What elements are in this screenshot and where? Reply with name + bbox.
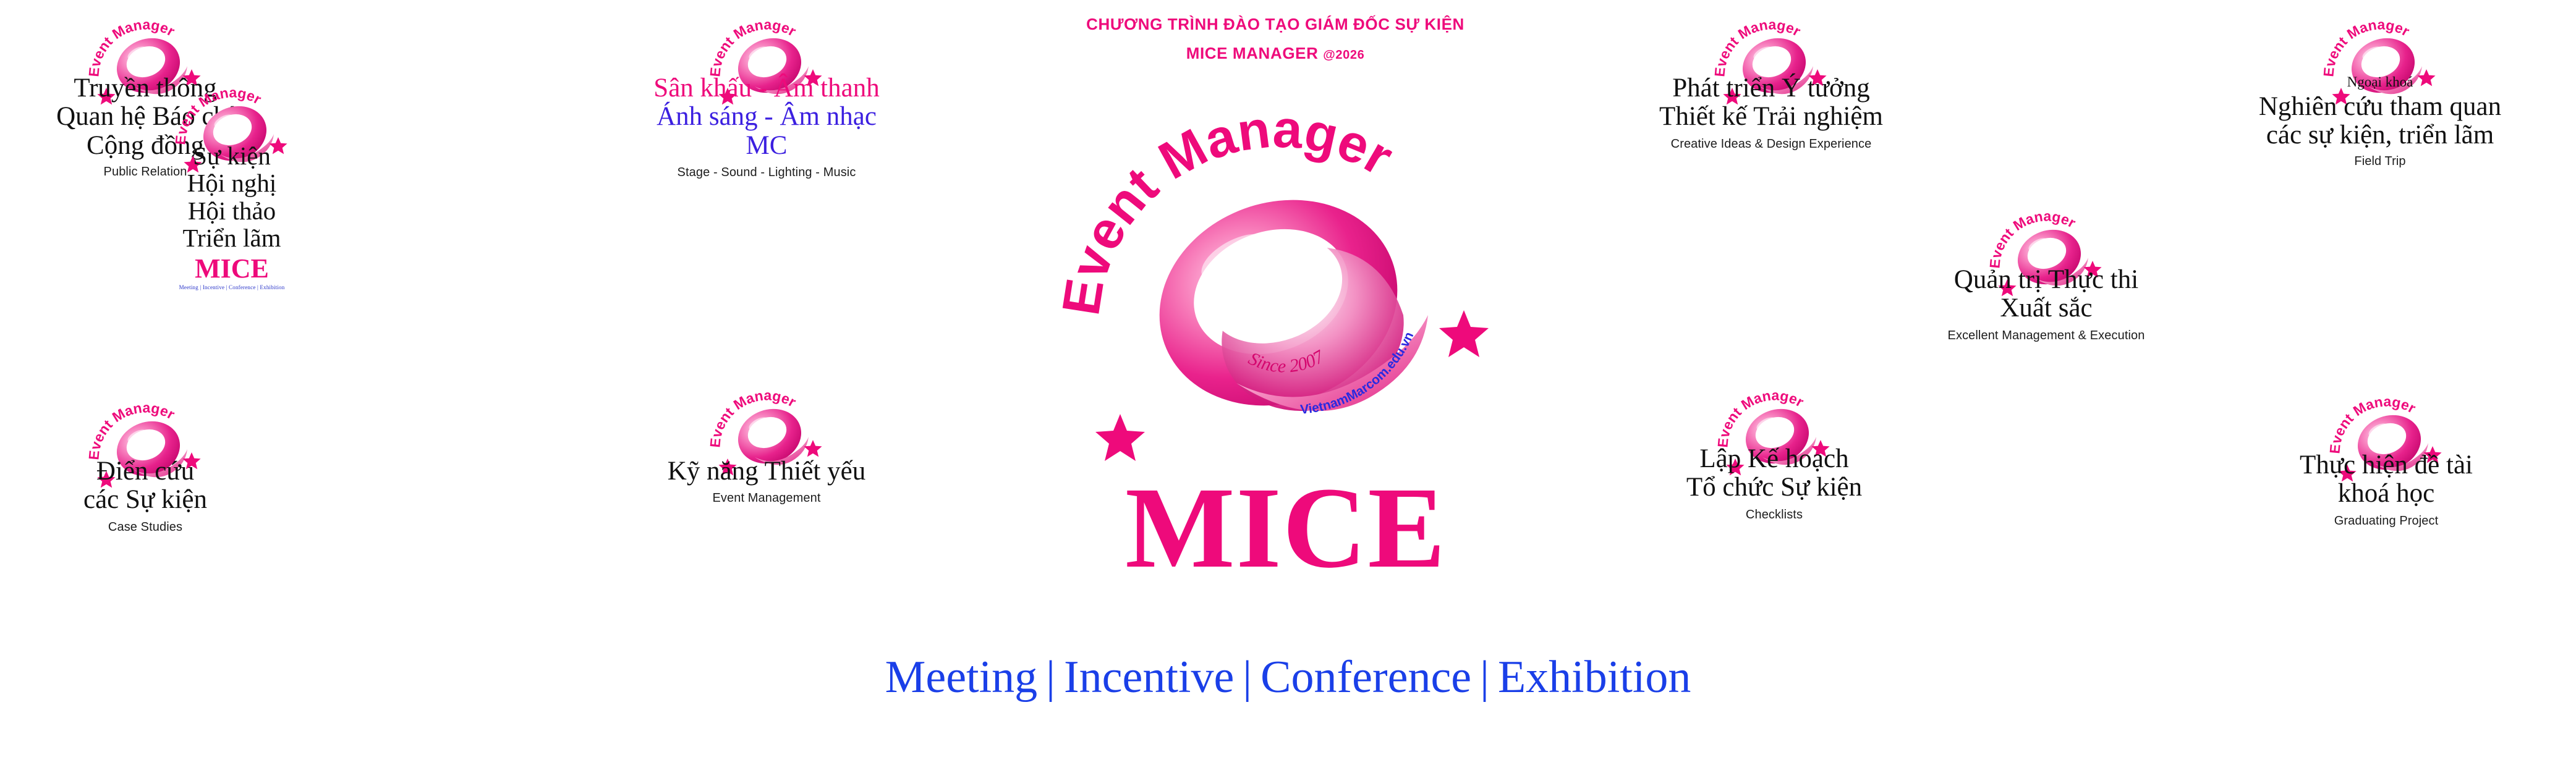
module-creative-ideas: Event Manager Phát triển Ý tưởng Thiết k… — [1586, 12, 1957, 151]
badge-graduating-project: Event Manager — [2213, 389, 2559, 451]
module-title-line: Sân khấu - Âm thanh — [575, 74, 958, 103]
module-title: Kỹ năng Thiết yếu — [612, 457, 921, 486]
star-icon — [1439, 310, 1489, 357]
module-title-line: Lập Kế hoạch — [1620, 445, 1929, 473]
module-title-line: Nghiên cứu tham quan — [2188, 93, 2572, 121]
module-title-line: Ánh sáng - Âm nhạc — [575, 103, 958, 131]
tagline: Meeting|Incentive|Conference|Exhibition — [0, 654, 2576, 700]
title-line-2: MICE MANAGER @2026 — [997, 44, 1554, 63]
module-title: Lập Kế hoạch Tổ chức Sự kiện — [1620, 445, 1929, 502]
module-case-studies: Event Manager Điển cứu các Sự kiện Case … — [0, 395, 291, 534]
module-title: Quản trị Thực thi Xuất sắc — [1855, 266, 2238, 323]
module-mice-expansion: Meeting | Incentive | Conference | Exhib… — [93, 284, 371, 290]
module-event-management: Event Manager Kỹ năng Thiết yếu Event Ma… — [612, 383, 921, 505]
module-title-line: Hội thảo — [93, 197, 371, 224]
title-line-2-text: MICE MANAGER — [1186, 44, 1319, 62]
module-pretitle: Ngoại khoá — [2188, 74, 2572, 90]
module-subtitle: Field Trip — [2188, 154, 2572, 169]
module-title: Phát triển Ý tưởng Thiết kế Trải nghiệm — [1586, 74, 1957, 132]
badge-stage-sound: Event Manager — [575, 12, 958, 74]
tagline-separator: | — [1037, 652, 1064, 703]
module-mice-wordmark: MICE — [93, 255, 371, 282]
module-field-trip: Event Manager Ngoại khoá Nghiên cứu tham… — [2188, 12, 2572, 169]
module-title-line: các Sự kiện — [0, 486, 291, 514]
page-title: CHƯƠNG TRÌNH ĐÀO TẠO GIÁM ĐỐC SỰ KIỆN MI… — [997, 15, 1554, 63]
module-title-line: Kỹ năng Thiết yếu — [612, 457, 921, 486]
module-subtitle: Graduating Project — [2213, 514, 2559, 528]
module-subtitle: Stage - Sound - Lighting - Music — [575, 166, 958, 180]
badge-public-relation: Event Manager — [0, 12, 291, 74]
module-title-line: Thiết kế Trải nghiệm — [1586, 103, 1957, 131]
module-mice-events: Event Manager Sự kiện Hội nghị Hội thảo … — [93, 80, 371, 290]
module-title: Sự kiện Hội nghị Hội thảo Triển lãm — [93, 142, 371, 251]
module-stage-sound-lighting: Event Manager Sân khấu - Âm thanh Ánh sá… — [575, 12, 958, 180]
module-title: Điển cứu các Sự kiện — [0, 457, 291, 515]
logo-swirl — [1130, 167, 1428, 439]
title-year: @2026 — [1323, 48, 1364, 62]
badge-event-management: Event Manager — [612, 383, 921, 457]
module-subtitle: Checklists — [1620, 508, 1929, 522]
tagline-item-incentive: Incentive — [1064, 652, 1234, 703]
module-title: Sân khấu - Âm thanh Ánh sáng - Âm nhạc M… — [575, 74, 958, 160]
module-title-line: các sự kiện, triển lãm — [2188, 121, 2572, 150]
tagline-separator: | — [1234, 652, 1260, 703]
star-icon — [1095, 414, 1145, 461]
module-title-line: Quản trị Thực thi — [1855, 266, 2238, 294]
main-logo-graphic: Event Manager Since 2007 VietnamMarcom.e… — [1051, 93, 1521, 439]
badge-excellent-management: Event Manager — [1855, 204, 2238, 266]
module-title-line: Hội nghị — [93, 169, 371, 196]
module-subtitle: Case Studies — [0, 520, 291, 534]
module-title-line: Xuất sắc — [1855, 294, 2238, 323]
module-subtitle: Excellent Management & Execution — [1855, 329, 2238, 343]
module-excellent-management: Event Manager Quản trị Thực thi Xuất sắc… — [1855, 204, 2238, 343]
module-title: Thực hiện đề tài khoá học — [2213, 451, 2559, 509]
tagline-item-conference: Conference — [1260, 652, 1471, 703]
module-title-line: Phát triển Ý tưởng — [1586, 74, 1957, 103]
title-line-1: CHƯƠNG TRÌNH ĐÀO TẠO GIÁM ĐỐC SỰ KIỆN — [997, 15, 1554, 34]
badge-checklists: Event Manager — [1620, 383, 1929, 445]
module-title-line: khoá học — [2213, 479, 2559, 508]
tagline-item-exhibition: Exhibition — [1498, 652, 1691, 703]
poster-canvas: CHƯƠNG TRÌNH ĐÀO TẠO GIÁM ĐỐC SỰ KIỆN MI… — [0, 0, 2576, 773]
module-checklists: Event Manager Lập Kế hoạch Tổ chức Sự ki… — [1620, 383, 1929, 522]
module-title-line: MC — [575, 132, 958, 160]
event-manager-badge-icon: Event Manager — [2324, 12, 2436, 105]
badge-field-trip: Event Manager — [2188, 12, 2572, 74]
tagline-item-meeting: Meeting — [885, 652, 1038, 703]
badge-mice-events: Event Manager — [93, 80, 371, 142]
module-title-line: Triển lãm — [93, 224, 371, 251]
main-logo: Event Manager Since 2007 VietnamMarcom.e… — [1051, 93, 1521, 439]
module-title-line: Điển cứu — [0, 457, 291, 486]
module-title-line: Tổ chức Sự kiện — [1620, 473, 1929, 502]
badge-creative-ideas: Event Manager — [1586, 12, 1957, 74]
tagline-separator: | — [1471, 652, 1498, 703]
module-title-line: Sự kiện — [93, 142, 371, 169]
logo-wordmark: MICE — [1051, 470, 1521, 586]
module-title: Nghiên cứu tham quan các sự kiện, triển … — [2188, 93, 2572, 150]
module-subtitle: Creative Ideas & Design Experience — [1586, 137, 1957, 151]
module-title-line: Thực hiện đề tài — [2213, 451, 2559, 479]
module-subtitle: Event Management — [612, 491, 921, 505]
badge-case-studies: Event Manager — [0, 395, 291, 457]
module-graduating-project: Event Manager Thực hiện đề tài khoá học … — [2213, 389, 2559, 528]
